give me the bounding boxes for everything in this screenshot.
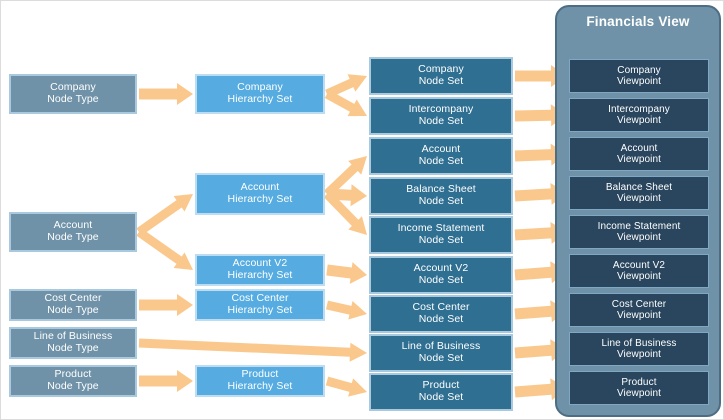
node-type-box-company[interactable]: Company Node Type bbox=[9, 74, 137, 114]
node-set-box-product[interactable]: Product Node Set bbox=[369, 373, 513, 411]
viewpoint-box-cost[interactable]: Cost Center Viewpoint bbox=[569, 293, 709, 327]
hierarchy-set-box-account[interactable]: Account Hierarchy Set bbox=[195, 173, 325, 215]
viewpoint-box-inter[interactable]: Intercompany Viewpoint bbox=[569, 98, 709, 132]
arrow-hs-accountv2-to-ns-accountv2 bbox=[326, 262, 367, 284]
hierarchy-set-box-product[interactable]: Product Hierarchy Set bbox=[195, 365, 325, 397]
node-set-box-account[interactable]: Account Node Set bbox=[369, 137, 513, 175]
arrow-hs-account-to-ns-account bbox=[324, 156, 367, 197]
hierarchy-set-box-cost[interactable]: Cost Center Hierarchy Set bbox=[195, 289, 325, 321]
viewpoint-box-company[interactable]: Company Viewpoint bbox=[569, 59, 709, 93]
viewpoint-box-balance[interactable]: Balance Sheet Viewpoint bbox=[569, 176, 709, 210]
arrow-nt-account-to-hs-account bbox=[136, 194, 193, 236]
arrow-hs-account-to-ns-income bbox=[324, 191, 367, 235]
node-set-box-accountv2[interactable]: Account V2 Node Set bbox=[369, 256, 513, 294]
node-type-box-cost[interactable]: Cost Center Node Type bbox=[9, 289, 137, 321]
arrow-hs-account-to-ns-balance bbox=[327, 184, 367, 206]
viewpoint-box-lob[interactable]: Line of Business Viewpoint bbox=[569, 332, 709, 366]
arrow-nt-cost-to-hs-cost bbox=[139, 294, 193, 316]
hierarchy-set-box-company[interactable]: Company Hierarchy Set bbox=[195, 74, 325, 114]
node-set-box-cost[interactable]: Cost Center Node Set bbox=[369, 295, 513, 333]
arrow-hs-company-to-ns-inter bbox=[325, 90, 367, 116]
viewpoint-box-income[interactable]: Income Statement Viewpoint bbox=[569, 215, 709, 249]
node-type-box-account[interactable]: Account Node Type bbox=[9, 212, 137, 252]
node-set-box-company[interactable]: Company Node Set bbox=[369, 57, 513, 95]
arrow-nt-product-to-hs-product bbox=[139, 370, 193, 392]
node-set-box-income[interactable]: Income Statement Node Set bbox=[369, 216, 513, 254]
node-type-box-product[interactable]: Product Node Type bbox=[9, 365, 137, 397]
diagram-canvas: Financials View Company Node TypeAccount… bbox=[0, 0, 724, 420]
node-type-box-lob[interactable]: Line of Business Node Type bbox=[9, 327, 137, 359]
arrow-hs-company-to-ns-company bbox=[325, 74, 367, 98]
node-set-box-inter[interactable]: Intercompany Node Set bbox=[369, 97, 513, 135]
viewpoint-box-accountv2[interactable]: Account V2 Viewpoint bbox=[569, 254, 709, 288]
arrow-hs-cost-to-ns-cost bbox=[326, 301, 367, 320]
arrow-hs-product-to-ns-product bbox=[326, 377, 367, 397]
viewpoint-box-product[interactable]: Product Viewpoint bbox=[569, 371, 709, 405]
arrow-nt-lob-to-ns-lob bbox=[139, 339, 367, 362]
viewpoint-box-account[interactable]: Account Viewpoint bbox=[569, 137, 709, 171]
node-set-box-lob[interactable]: Line of Business Node Set bbox=[369, 334, 513, 372]
node-set-box-balance[interactable]: Balance Sheet Node Set bbox=[369, 177, 513, 215]
arrow-nt-company-to-hs-company bbox=[139, 83, 193, 105]
financials-view-title: Financials View bbox=[555, 14, 721, 29]
arrow-nt-account-to-hs-accountv2 bbox=[136, 228, 193, 270]
hierarchy-set-box-accountv2[interactable]: Account V2 Hierarchy Set bbox=[195, 254, 325, 286]
